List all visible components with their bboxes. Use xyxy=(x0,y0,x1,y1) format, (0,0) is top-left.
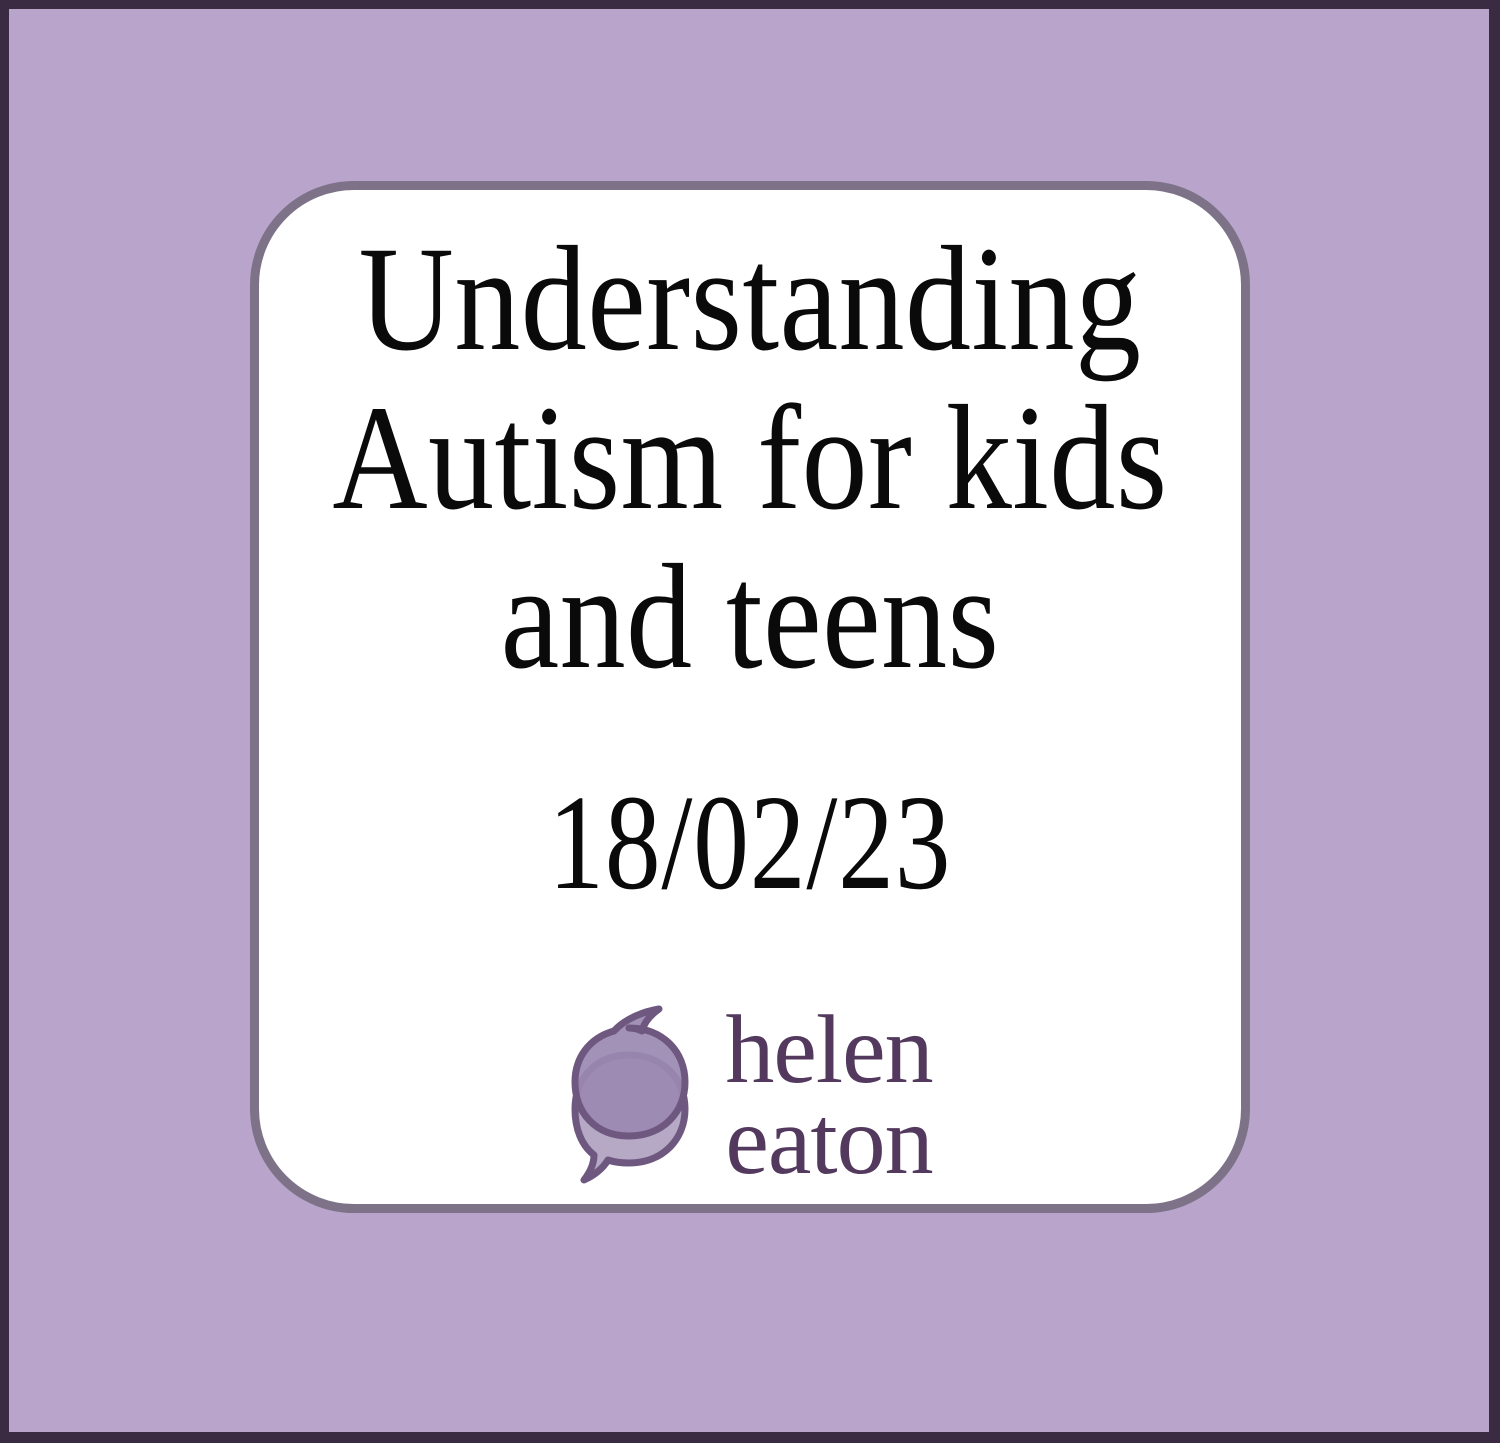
brand-logo: helen eaton xyxy=(567,1003,932,1188)
event-date: 18/02/23 xyxy=(548,775,951,911)
title-line-1: Understanding xyxy=(318,220,1182,379)
title-line-2: Autism for kids xyxy=(318,379,1182,538)
logo-wordmark: helen eaton xyxy=(725,1005,932,1185)
poster-canvas: Understanding Autism for kids and teens … xyxy=(0,0,1500,1443)
logo-wordmark-line-1: helen xyxy=(725,1005,932,1095)
logo-wordmark-line-2: eaton xyxy=(725,1096,932,1186)
title-line-3: and teens xyxy=(318,538,1182,697)
speech-bubbles-logo-icon xyxy=(567,1003,707,1188)
page-title: Understanding Autism for kids and teens xyxy=(259,220,1241,697)
announcement-card: Understanding Autism for kids and teens … xyxy=(250,181,1250,1213)
